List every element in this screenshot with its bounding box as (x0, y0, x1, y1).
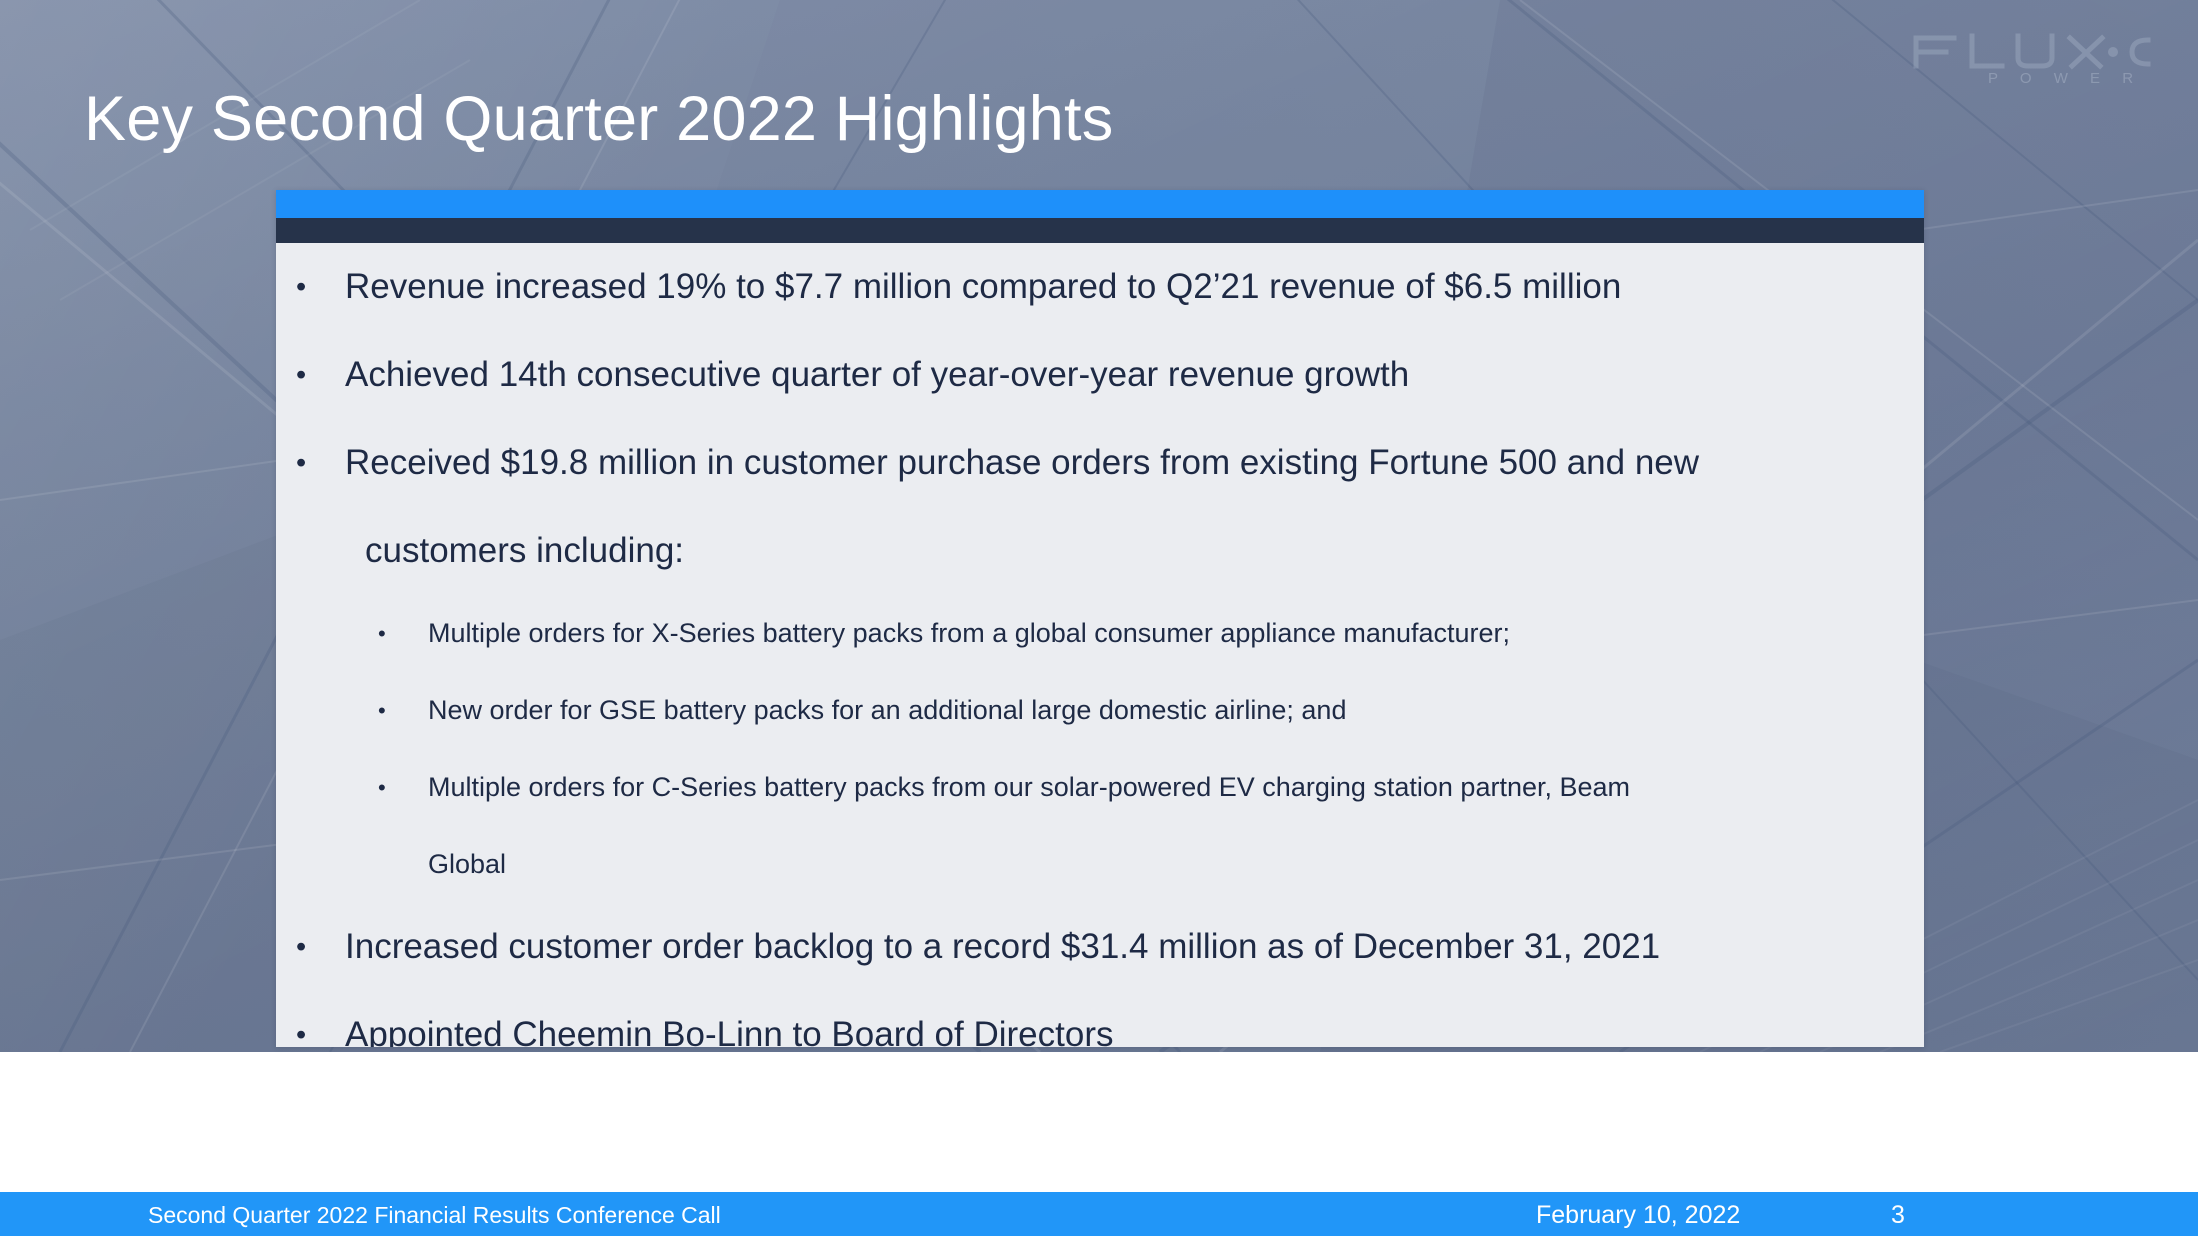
footer-title: Second Quarter 2022 Financial Results Co… (148, 1202, 721, 1228)
slide-footer: Second Quarter 2022 Financial Results Co… (0, 1192, 2198, 1236)
bullet-marker-icon: • (296, 243, 345, 331)
card-accent-bar-blue (276, 190, 1924, 218)
flux-power-tagline: P O W E R (1988, 70, 2142, 87)
flux-power-logo: P O W E R (1910, 26, 2160, 96)
bullet-marker-icon: • (296, 331, 345, 419)
bullet-item: •Appointed Cheemin Bo-Linn to Board of D… (276, 991, 1924, 1047)
bullet-text: customers including: (365, 507, 1884, 595)
bullet-text: Received $19.8 million in customer purch… (345, 419, 1884, 507)
bullet-item: •Received $19.8 million in customer purc… (276, 419, 1924, 507)
page-title: Key Second Quarter 2022 Highlights (84, 84, 1684, 155)
footer-date: February 10, 2022 (1536, 1201, 1740, 1229)
bullet-marker-icon: • (296, 419, 345, 507)
slide-root: Key Second Quarter 2022 Highlights P O W… (0, 0, 2198, 1236)
flux-wordmark-icon (1910, 26, 2160, 72)
bullet-item: •Achieved 14th consecutive quarter of ye… (276, 331, 1924, 419)
highlights-bullet-list: •Revenue increased 19% to $7.7 million c… (276, 243, 1924, 1047)
bullet-text: Increased customer order backlog to a re… (345, 903, 1884, 991)
bullet-text: Multiple orders for C-Series battery pac… (428, 749, 1884, 826)
bullet-marker-icon: • (296, 991, 345, 1047)
bullet-item: •New order for GSE battery packs for an … (276, 672, 1924, 749)
bullet-text: Multiple orders for X-Series battery pac… (428, 595, 1884, 672)
bullet-continuation: customers including: (276, 507, 1924, 595)
bullet-item: •Multiple orders for C-Series battery pa… (276, 749, 1924, 826)
bullet-item: •Revenue increased 19% to $7.7 million c… (276, 243, 1924, 331)
bullet-text: Achieved 14th consecutive quarter of yea… (345, 331, 1884, 419)
bullet-text: Global (428, 826, 1884, 903)
bullet-item: •Increased customer order backlog to a r… (276, 903, 1924, 991)
card-accent-bar-navy (276, 218, 1924, 243)
highlights-card: •Revenue increased 19% to $7.7 million c… (276, 190, 1924, 1047)
bullet-text: New order for GSE battery packs for an a… (428, 672, 1884, 749)
card-body: •Revenue increased 19% to $7.7 million c… (276, 243, 1924, 1047)
bullet-marker-icon: • (378, 595, 428, 672)
bullet-marker-icon: • (378, 749, 428, 826)
bullet-item: •Multiple orders for X-Series battery pa… (276, 595, 1924, 672)
bullet-marker-icon: • (378, 672, 428, 749)
bullet-text: Revenue increased 19% to $7.7 million co… (345, 243, 1884, 331)
bullet-text: Appointed Cheemin Bo-Linn to Board of Di… (345, 991, 1884, 1047)
bullet-marker-icon: • (296, 903, 345, 991)
footer-page-number: 3 (1891, 1201, 1905, 1229)
bullet-continuation: Global (276, 826, 1924, 903)
